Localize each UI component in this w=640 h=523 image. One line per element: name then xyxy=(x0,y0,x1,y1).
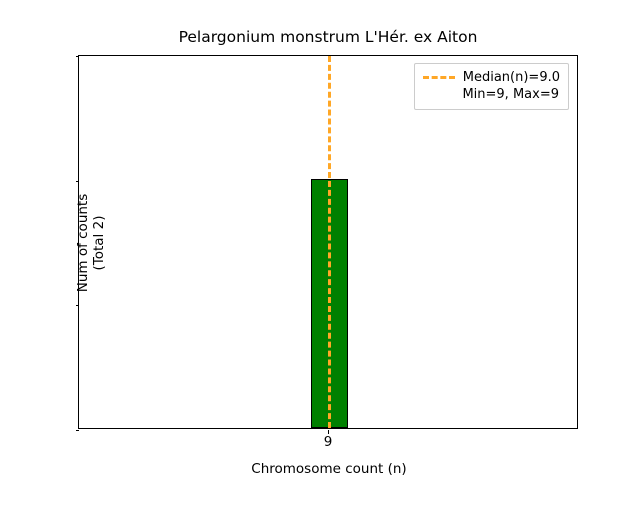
xtick-mark-9 xyxy=(328,430,329,434)
plot-area: 0 1 2 3 9 Num of counts (Total 2) Chromo… xyxy=(78,55,578,429)
dashed-line-icon xyxy=(423,76,455,79)
chart-title: Pelargonium monstrum L'Hér. ex Aiton xyxy=(78,28,578,46)
x-axis-label: Chromosome count (n) xyxy=(79,461,579,477)
plot-inner xyxy=(79,56,577,428)
figure-canvas: Pelargonium monstrum L'Hér. ex Aiton 0 1… xyxy=(0,0,640,480)
legend-label-median: Median(n)=9.0 xyxy=(463,69,560,86)
y-axis-label: Num of counts (Total 2) xyxy=(75,0,107,523)
legend-label-minmax: Min=9, Max=9 xyxy=(423,86,560,103)
legend-entry-median: Median(n)=9.0 xyxy=(423,69,560,86)
median-line xyxy=(328,56,331,428)
xtick-label-9: 9 xyxy=(288,436,368,450)
legend: Median(n)=9.0 Min=9, Max=9 xyxy=(414,63,569,110)
